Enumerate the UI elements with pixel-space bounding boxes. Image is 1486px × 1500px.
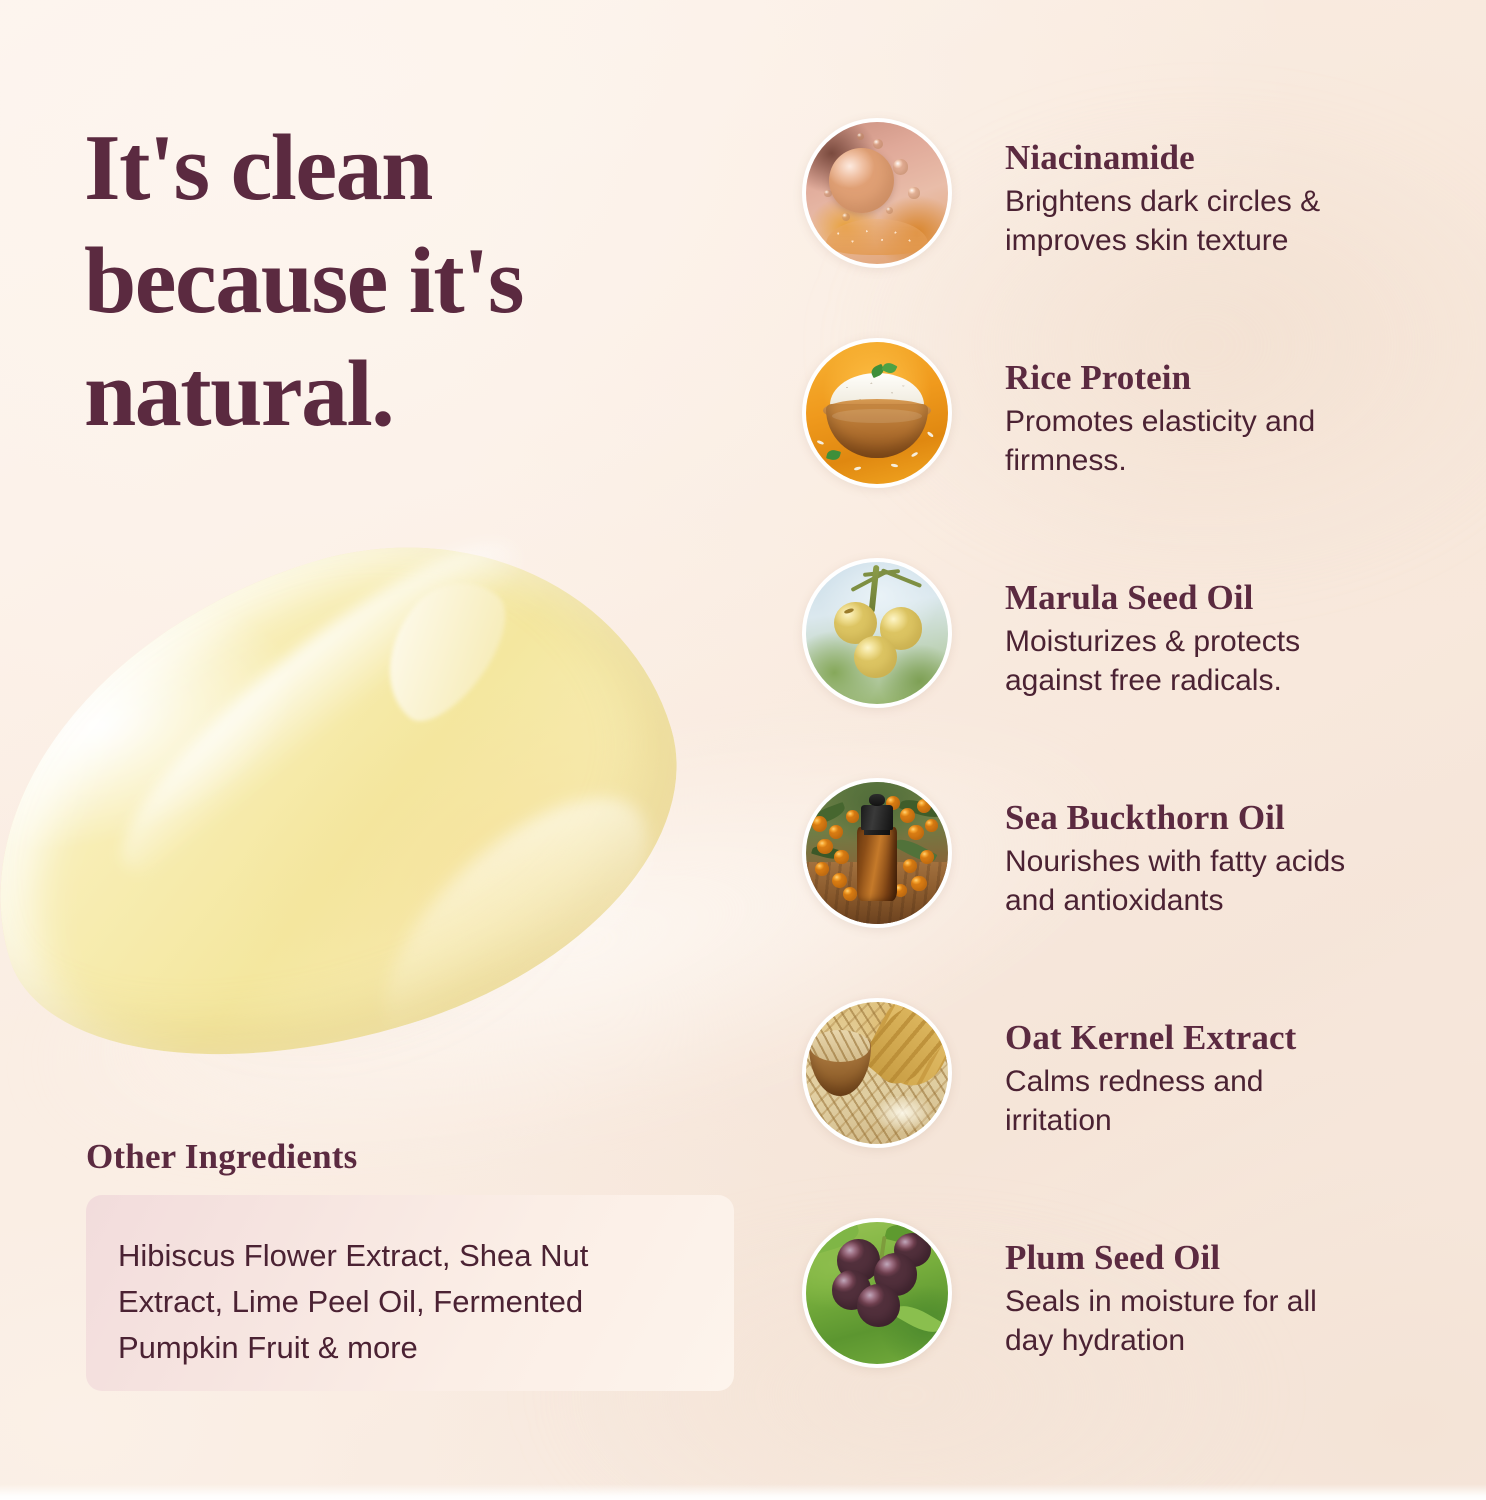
rice-protein-thumbnail [802, 338, 952, 488]
cream-swatch-image [0, 520, 750, 1160]
marula-seed-oil-text: Marula Seed Oil Moisturizes & protects a… [1005, 579, 1445, 700]
ingredient-row-niacinamide: Niacinamide Brightens dark circles & imp… [802, 118, 1462, 338]
ingredient-row-rice-protein: Rice Protein Promotes elasticity and fir… [802, 338, 1462, 558]
ingredient-description: Calms redness and irritation [1005, 1062, 1445, 1140]
marula-fruit-icon [806, 562, 948, 704]
oat-kernel-extract-thumbnail [802, 998, 952, 1148]
ingredient-name: Sea Buckthorn Oil [1005, 799, 1445, 837]
oat-grains-icon [806, 1002, 948, 1144]
ingredient-description: Nourishes with fatty acids and antioxida… [1005, 842, 1445, 920]
ingredient-name: Oat Kernel Extract [1005, 1019, 1445, 1057]
product-ingredients-infographic: It's clean because it's natural. Other I… [0, 0, 1486, 1500]
plum-seed-oil-thumbnail [802, 1218, 952, 1368]
ingredient-description: Seals in moisture for all day hydration [1005, 1282, 1445, 1360]
ingredient-name: Rice Protein [1005, 359, 1445, 397]
rice-protein-text: Rice Protein Promotes elasticity and fir… [1005, 359, 1445, 480]
marula-seed-oil-thumbnail [802, 558, 952, 708]
other-ingredients-text: Hibiscus Flower Extract, Shea Nut Extrac… [118, 1233, 718, 1371]
ingredient-list: Niacinamide Brightens dark circles & imp… [802, 118, 1462, 1438]
oat-kernel-extract-text: Oat Kernel Extract Calms redness and irr… [1005, 1019, 1445, 1140]
serum-bubbles-icon [806, 122, 948, 264]
niacinamide-thumbnail [802, 118, 952, 268]
other-ingredients-title: Other Ingredients [86, 1137, 357, 1177]
plum-seed-oil-text: Plum Seed Oil Seals in moisture for all … [1005, 1239, 1445, 1360]
ingredient-row-marula-seed-oil: Marula Seed Oil Moisturizes & protects a… [802, 558, 1462, 778]
sea-buckthorn-oil-thumbnail [802, 778, 952, 928]
plum-fruit-icon [806, 1222, 948, 1364]
ingredient-name: Plum Seed Oil [1005, 1239, 1445, 1277]
cream-swatch-body [0, 476, 731, 1130]
ingredient-description: Brightens dark circles & improves skin t… [1005, 182, 1445, 260]
page-headline: It's clean because it's natural. [84, 112, 784, 450]
rice-bowl-icon [806, 342, 948, 484]
cream-swatch-highlight-top [88, 504, 552, 912]
ingredient-description: Moisturizes & protects against free radi… [1005, 622, 1445, 700]
ingredient-name: Marula Seed Oil [1005, 579, 1445, 617]
ingredient-row-oat-kernel-extract: Oat Kernel Extract Calms redness and irr… [802, 998, 1462, 1218]
sea-buckthorn-oil-text: Sea Buckthorn Oil Nourishes with fatty a… [1005, 799, 1445, 920]
ingredient-description: Promotes elasticity and firmness. [1005, 402, 1445, 480]
ingredient-row-plum-seed-oil: Plum Seed Oil Seals in moisture for all … [802, 1218, 1462, 1438]
ingredient-row-sea-buckthorn-oil: Sea Buckthorn Oil Nourishes with fatty a… [802, 778, 1462, 998]
bottom-edge-fade [0, 1484, 1486, 1500]
ingredient-name: Niacinamide [1005, 139, 1445, 177]
niacinamide-text: Niacinamide Brightens dark circles & imp… [1005, 139, 1445, 260]
oil-dropper-bottle-icon [806, 782, 948, 924]
